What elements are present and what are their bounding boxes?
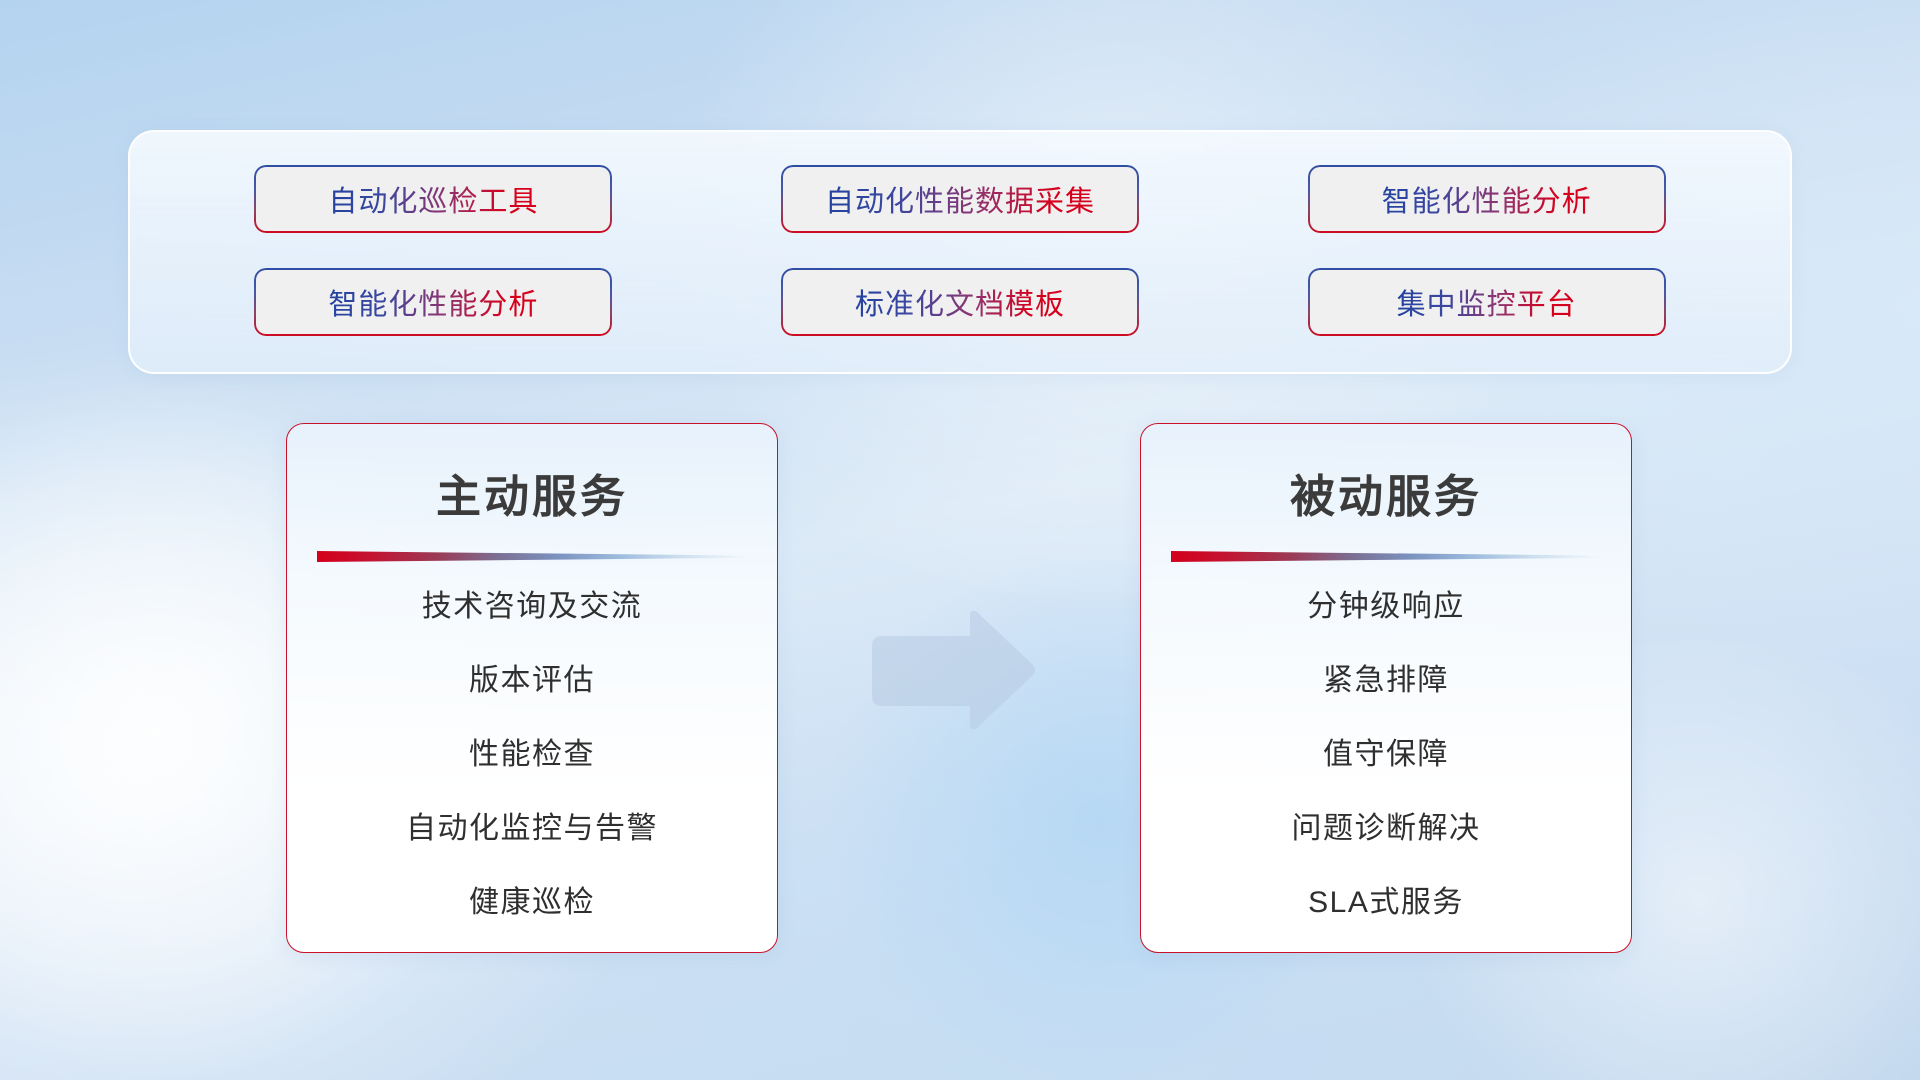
capability-tag-label: 集中监控平台 xyxy=(1397,281,1577,323)
list-item: 自动化监控与告警 xyxy=(287,814,777,844)
divider-gradient-wedge xyxy=(1171,551,1601,562)
service-item-list: 分钟级响应 紧急排障 值守保障 问题诊断解决 SLA式服务 xyxy=(1141,592,1631,918)
service-card-title: 被动服务 xyxy=(1141,460,1631,525)
capability-tag-label: 智能化性能分析 xyxy=(1382,178,1592,220)
capability-tags-grid: 自动化巡检工具 自动化性能数据采集 智能化性能分析 智能化性能分析 标准化文档模… xyxy=(130,132,1790,372)
service-card-active[interactable]: 主动服务 技术咨询及交流 版本评估 性能检查 自动化监控与告警 健康巡检 xyxy=(286,423,778,953)
service-card-title: 主动服务 xyxy=(287,460,777,525)
list-item: SLA式服务 xyxy=(1141,888,1631,918)
list-item: 紧急排障 xyxy=(1141,666,1631,696)
list-item: 版本评估 xyxy=(287,666,777,696)
list-item: 值守保障 xyxy=(1141,740,1631,770)
title-divider xyxy=(1171,551,1601,562)
title-divider xyxy=(317,551,747,562)
divider-gradient-wedge xyxy=(317,551,747,562)
service-item-list: 技术咨询及交流 版本评估 性能检查 自动化监控与告警 健康巡检 xyxy=(287,592,777,918)
capability-tag-label: 自动化巡检工具 xyxy=(328,178,538,220)
arrow-right-icon xyxy=(866,608,1038,734)
list-item: 问题诊断解决 xyxy=(1141,814,1631,844)
list-item: 技术咨询及交流 xyxy=(287,592,777,622)
capability-tag-label: 标准化文档模板 xyxy=(855,281,1065,323)
service-card-passive[interactable]: 被动服务 分钟级响应 紧急排障 值守保障 问题诊断解决 SLA式服务 xyxy=(1140,423,1632,953)
capability-tag-centralized-monitoring-platform[interactable]: 集中监控平台 xyxy=(1308,268,1666,336)
list-item: 健康巡检 xyxy=(287,888,777,918)
capability-tag-automated-inspection-tool[interactable]: 自动化巡检工具 xyxy=(254,165,612,233)
slide-canvas: 自动化巡检工具 自动化性能数据采集 智能化性能分析 智能化性能分析 标准化文档模… xyxy=(0,0,1920,1080)
capability-tag-standardized-document-template[interactable]: 标准化文档模板 xyxy=(781,268,1139,336)
capability-tag-label: 自动化性能数据采集 xyxy=(825,178,1095,220)
capability-tag-intelligent-performance-analysis-2[interactable]: 智能化性能分析 xyxy=(254,268,612,336)
list-item: 分钟级响应 xyxy=(1141,592,1631,622)
capability-tag-intelligent-performance-analysis-1[interactable]: 智能化性能分析 xyxy=(1308,165,1666,233)
list-item: 性能检查 xyxy=(287,740,777,770)
capability-tag-label: 智能化性能分析 xyxy=(328,281,538,323)
capability-tags-panel: 自动化巡检工具 自动化性能数据采集 智能化性能分析 智能化性能分析 标准化文档模… xyxy=(128,130,1792,374)
capability-tag-automated-performance-data-collection[interactable]: 自动化性能数据采集 xyxy=(781,165,1139,233)
